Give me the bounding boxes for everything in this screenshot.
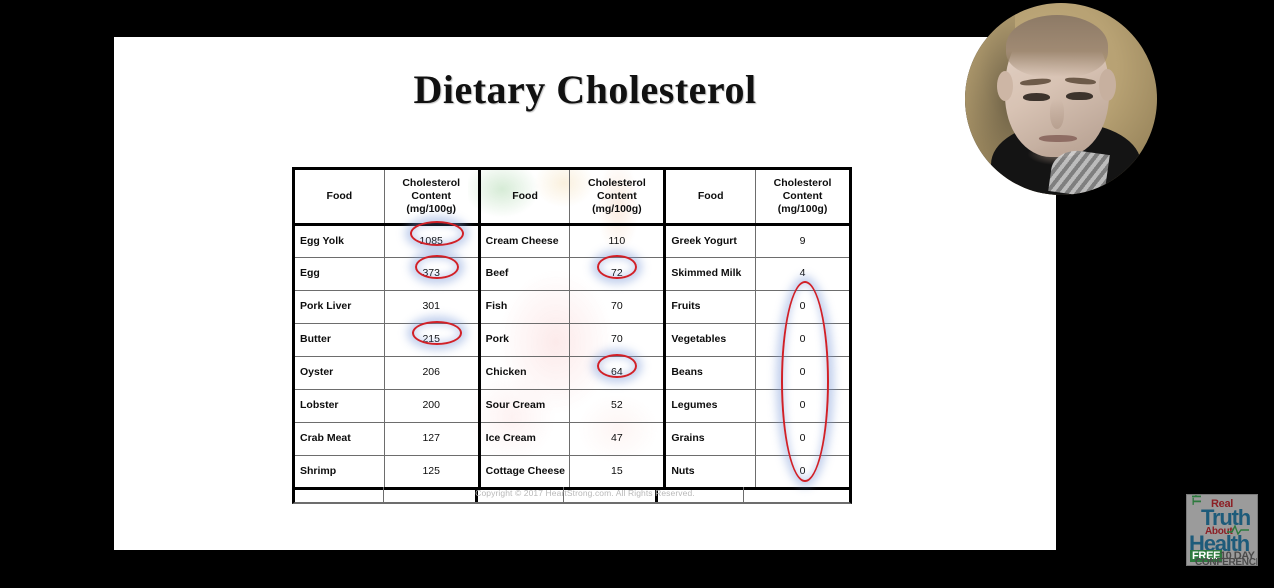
header-value-1: Cholesterol Content (mg/100g) — [384, 169, 479, 225]
webcam-speaker-ear-left — [997, 71, 1013, 101]
webcam-speaker-eye-right — [1066, 92, 1093, 100]
table-row: Crab Meat127Ice Cream47Grains0 — [294, 423, 851, 456]
cell-food-1: Pork Liver — [294, 291, 385, 324]
webcam-speaker-nose — [1050, 99, 1064, 129]
header-food-1: Food — [294, 169, 385, 225]
header-value-line1: Cholesterol — [588, 177, 646, 189]
table-row: Shrimp125Cottage Cheese15Nuts0 — [294, 456, 851, 489]
header-value-2: Cholesterol Content (mg/100g) — [570, 169, 665, 225]
cell-food-1: Egg — [294, 258, 385, 291]
table-body: Egg Yolk1085Cream Cheese110Greek Yogurt9… — [294, 225, 851, 489]
cell-value-1: 301 — [384, 291, 479, 324]
cell-value-2: 110 — [570, 225, 665, 258]
cell-value-3: 9 — [756, 225, 851, 258]
header-value-line2: Content — [783, 190, 823, 202]
table-row: Pork Liver301Fish70Fruits0 — [294, 291, 851, 324]
cell-food-1: Oyster — [294, 357, 385, 390]
heartbeat-pulse-icon — [1227, 525, 1249, 535]
cell-value-2: 72 — [570, 258, 665, 291]
table-row: Lobster200Sour Cream52Legumes0 — [294, 390, 851, 423]
cell-value-3: 0 — [756, 456, 851, 489]
header-food-2: Food — [479, 169, 570, 225]
table-row: Oyster206Chicken64Beans0 — [294, 357, 851, 390]
cell-food-2: Cream Cheese — [479, 225, 570, 258]
cholesterol-table: Food Cholesterol Content (mg/100g) Food … — [292, 167, 852, 490]
cell-food-1: Egg Yolk — [294, 225, 385, 258]
cell-food-3: Nuts — [665, 456, 756, 489]
cell-food-3: Greek Yogurt — [665, 225, 756, 258]
header-value-line2: Content — [411, 190, 451, 202]
copyright-notice: Copyright © 2017 HeartStrong.com. All Ri… — [114, 488, 1056, 498]
cholesterol-table-container: Food Cholesterol Content (mg/100g) Food … — [292, 167, 852, 487]
cell-value-2: 70 — [570, 324, 665, 357]
header-value-line1: Cholesterol — [774, 177, 832, 189]
cell-food-2: Ice Cream — [479, 423, 570, 456]
header-food-3: Food — [665, 169, 756, 225]
cell-value-1: 200 — [384, 390, 479, 423]
cell-food-3: Beans — [665, 357, 756, 390]
webcam-video-bubble[interactable] — [965, 3, 1157, 195]
cell-value-3: 0 — [756, 291, 851, 324]
cell-food-3: Grains — [665, 423, 756, 456]
cell-food-3: Legumes — [665, 390, 756, 423]
cell-food-2: Beef — [479, 258, 570, 291]
logo-the-text: The — [1190, 494, 1204, 505]
cell-value-1: 373 — [384, 258, 479, 291]
webcam-speaker-hair — [1006, 15, 1108, 77]
cell-food-3: Skimmed Milk — [665, 258, 756, 291]
cell-food-1: Butter — [294, 324, 385, 357]
webcam-speaker-ear-right — [1099, 69, 1116, 101]
header-value-line3: (mg/100g) — [778, 203, 828, 215]
cell-value-1: 1085 — [384, 225, 479, 258]
header-value-line2: Content — [597, 190, 637, 202]
cell-food-1: Shrimp — [294, 456, 385, 489]
presentation-slide: Dietary Cholesterol Food Cholesterol Con… — [114, 37, 1056, 550]
cell-food-2: Sour Cream — [479, 390, 570, 423]
cell-value-2: 64 — [570, 357, 665, 390]
header-value-3: Cholesterol Content (mg/100g) — [756, 169, 851, 225]
cell-value-3: 0 — [756, 324, 851, 357]
cell-food-3: Vegetables — [665, 324, 756, 357]
cell-value-2: 47 — [570, 423, 665, 456]
cell-value-1: 206 — [384, 357, 479, 390]
conference-logo[interactable]: The Real Truth About Health FREE 10 DAY … — [1186, 494, 1258, 566]
cell-food-2: Chicken — [479, 357, 570, 390]
cell-value-1: 125 — [384, 456, 479, 489]
cell-value-3: 0 — [756, 423, 851, 456]
cell-value-1: 127 — [384, 423, 479, 456]
cell-value-1: 215 — [384, 324, 479, 357]
cell-food-2: Cottage Cheese — [479, 456, 570, 489]
webcam-speaker-mouth — [1039, 135, 1077, 142]
webcam-speaker-eye-left — [1023, 93, 1050, 101]
cell-value-2: 15 — [570, 456, 665, 489]
table-row: Butter215Pork70Vegetables0 — [294, 324, 851, 357]
page-title: Dietary Cholesterol — [114, 66, 1056, 113]
video-frame: Dietary Cholesterol Food Cholesterol Con… — [0, 0, 1274, 588]
cell-value-3: 4 — [756, 258, 851, 291]
cell-food-1: Lobster — [294, 390, 385, 423]
cell-value-2: 70 — [570, 291, 665, 324]
logo-conference-text: CONFERENCE — [1195, 557, 1258, 566]
table-row: Egg Yolk1085Cream Cheese110Greek Yogurt9 — [294, 225, 851, 258]
cell-food-2: Fish — [479, 291, 570, 324]
cell-value-3: 0 — [756, 357, 851, 390]
cell-value-3: 0 — [756, 390, 851, 423]
header-value-line1: Cholesterol — [402, 177, 460, 189]
cell-value-2: 52 — [570, 390, 665, 423]
table-row: Egg373Beef72Skimmed Milk4 — [294, 258, 851, 291]
header-value-line3: (mg/100g) — [406, 203, 456, 215]
cell-food-1: Crab Meat — [294, 423, 385, 456]
cell-food-2: Pork — [479, 324, 570, 357]
header-value-line3: (mg/100g) — [592, 203, 642, 215]
table-header: Food Cholesterol Content (mg/100g) Food … — [294, 169, 851, 225]
header-row: Food Cholesterol Content (mg/100g) Food … — [294, 169, 851, 225]
cell-food-3: Fruits — [665, 291, 756, 324]
